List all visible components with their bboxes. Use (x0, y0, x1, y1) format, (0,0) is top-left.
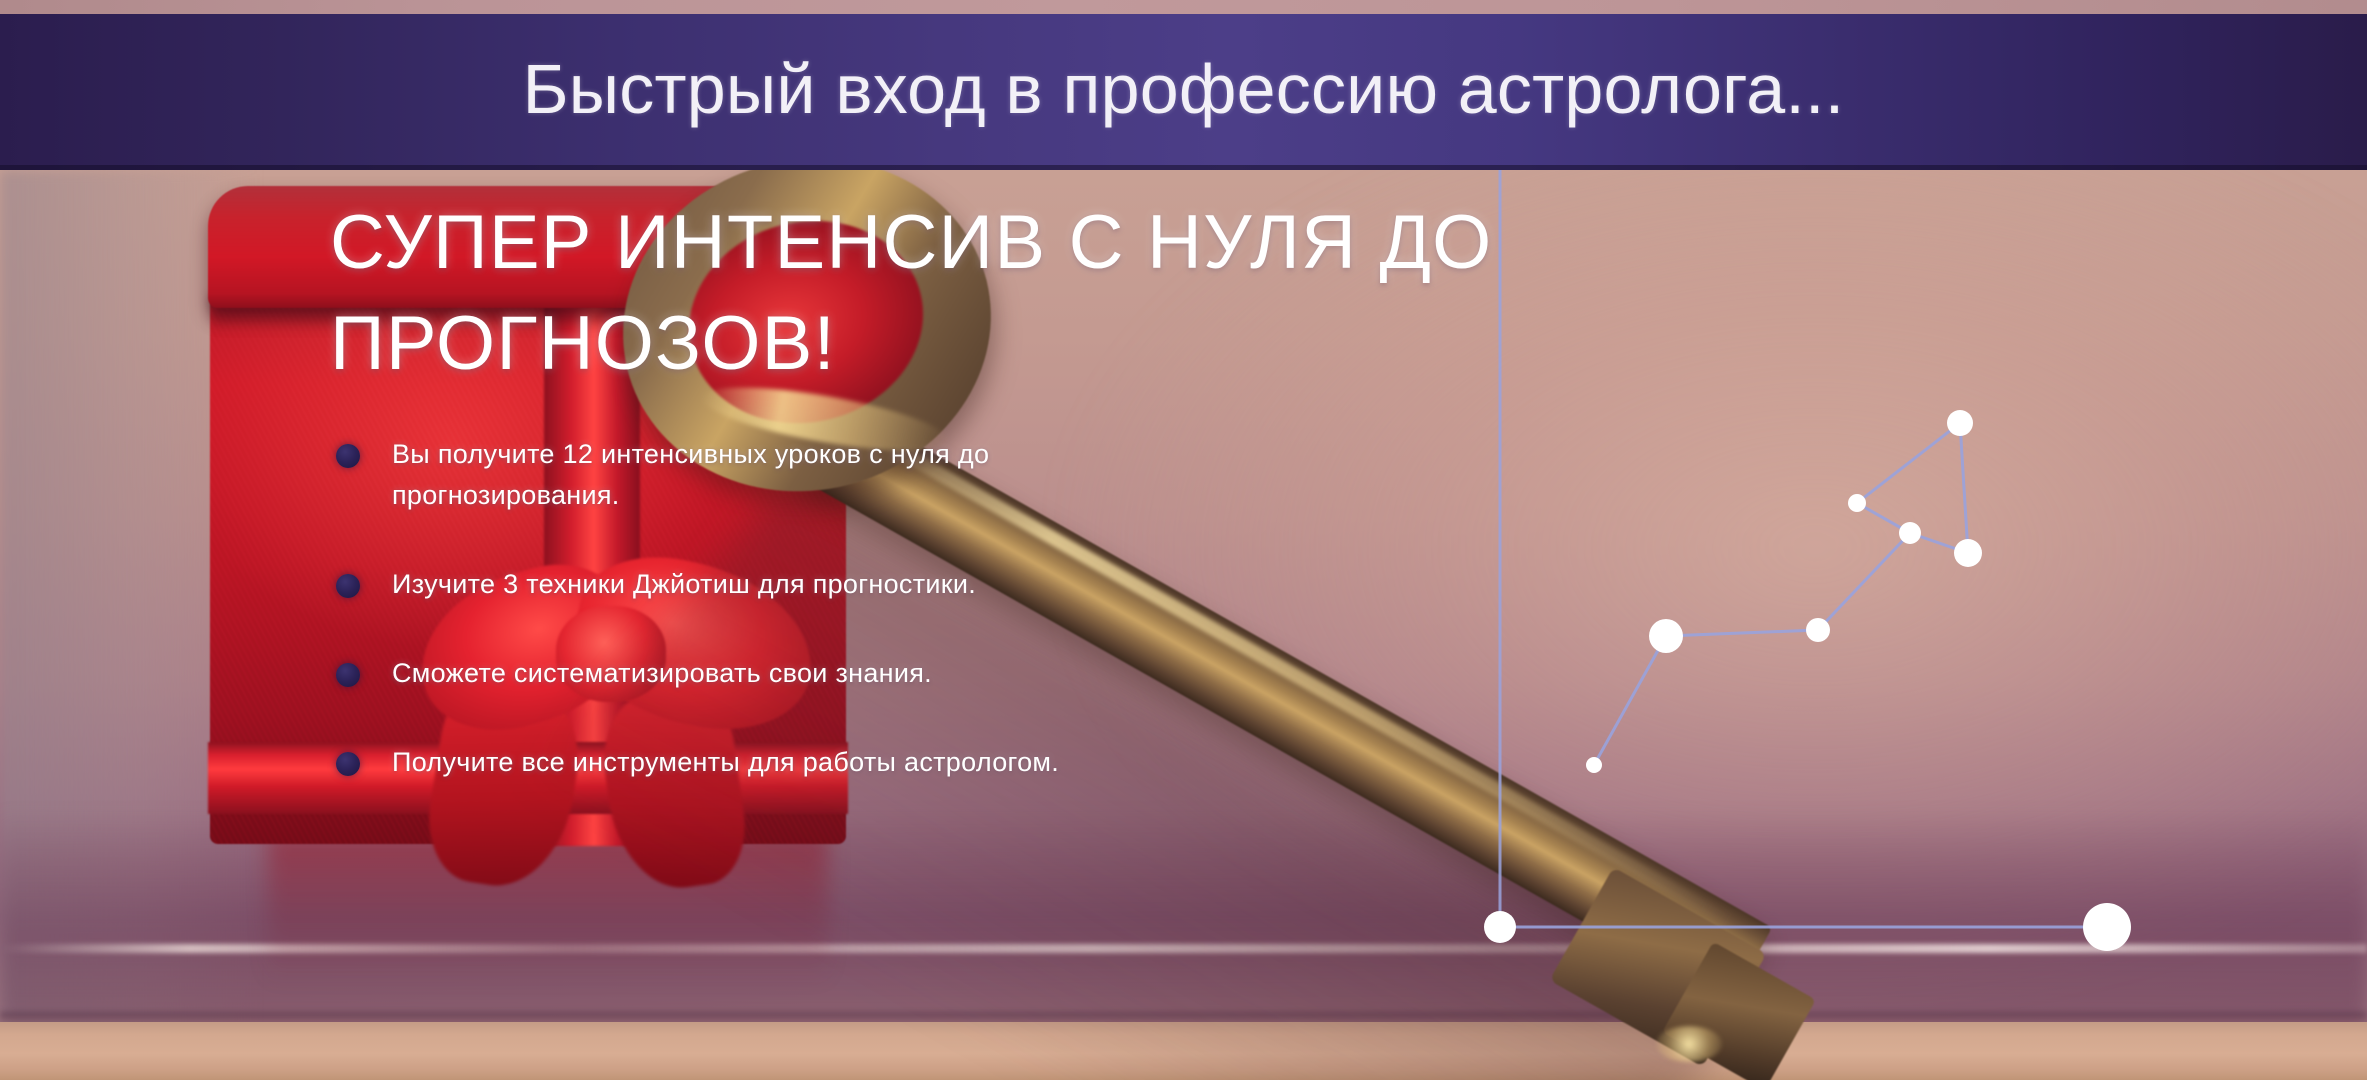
bullet-dot-icon (336, 444, 360, 468)
list-item: Изучите 3 техники Джйотиш для прогностик… (330, 564, 1172, 605)
page-title: Быстрый вход в профессию астролога... (0, 14, 2367, 170)
list-item-label: Вы получите 12 интенсивных уроков с нуля… (392, 439, 989, 510)
hero-banner-screenshot: Быстрый вход в профессию астролога... (0, 0, 2367, 1080)
benefits-list: Вы получите 12 интенсивных уроков с нуля… (330, 434, 1530, 783)
hero-image: Супер интенсив с нуля до прогнозов! Вы п… (0, 170, 2367, 1080)
top-edge-strip (0, 0, 2367, 14)
bullet-dot-icon (336, 752, 360, 776)
key-tip-glow (1656, 1026, 1722, 1062)
list-item: Получите все инструменты для работы астр… (330, 742, 1172, 783)
list-item-label: Сможете систематизировать свои знания. (392, 658, 932, 688)
hero-heading: Супер интенсив с нуля до прогнозов! (330, 192, 1530, 394)
list-item: Сможете систематизировать свои знания. (330, 653, 1172, 694)
header-bar: Быстрый вход в профессию астролога... (0, 14, 2367, 170)
list-item-label: Изучите 3 техники Джйотиш для прогностик… (392, 569, 976, 599)
bullet-dot-icon (336, 574, 360, 598)
hero-text-block: Супер интенсив с нуля до прогнозов! Вы п… (330, 192, 1530, 783)
list-item-label: Получите все инструменты для работы астр… (392, 747, 1059, 777)
list-item: Вы получите 12 интенсивных уроков с нуля… (330, 434, 1172, 516)
bullet-dot-icon (336, 663, 360, 687)
